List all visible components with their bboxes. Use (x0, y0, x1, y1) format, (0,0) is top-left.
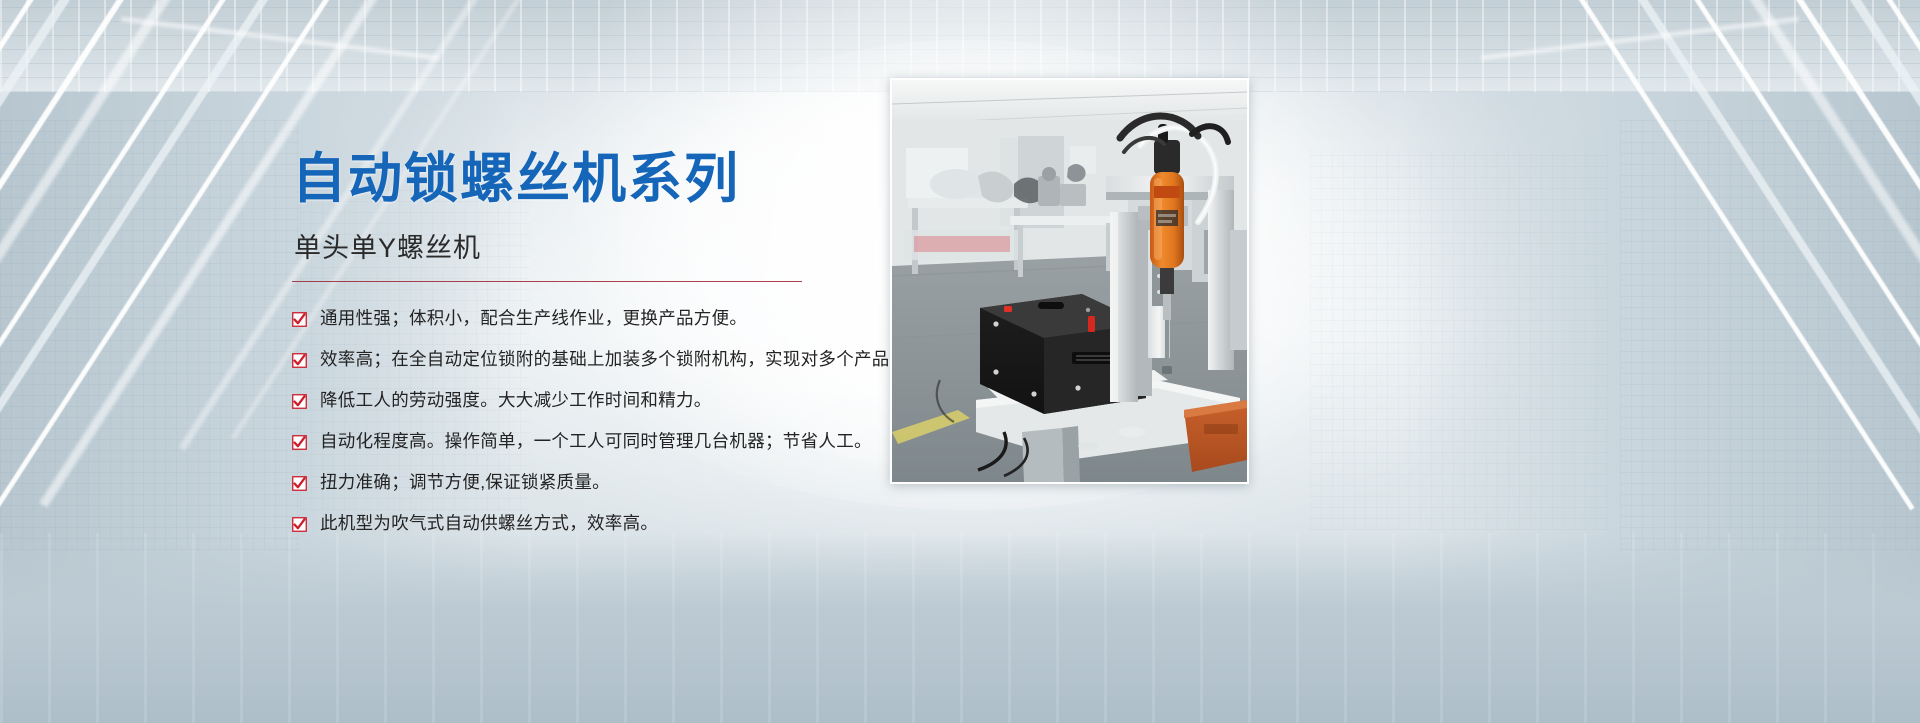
feature-text: 自动化程度高。操作简单，一个工人可同时管理几台机器；节省人工。 (320, 431, 872, 453)
feature-text: 扭力准确；调节方便,保证锁紧质量。 (320, 472, 610, 494)
list-item: 通用性强；体积小，配合生产线作业，更换产品方便。 (292, 308, 892, 330)
page-title: 自动锁螺丝机系列 (292, 150, 892, 208)
feature-text: 降低工人的劳动强度。大大减少工作时间和精力。 (320, 390, 712, 412)
list-item: 此机型为吹气式自动供螺丝方式，效率高。 (292, 513, 892, 535)
page-subtitle: 单头单Y螺丝机 (294, 226, 892, 265)
list-item: 降低工人的劳动强度。大大减少工作时间和精力。 (292, 390, 892, 412)
feature-text: 效率高；在全自动定位锁附的基础上加装多个锁附机构，实现对多个产品同时锁附。 (320, 349, 979, 371)
check-icon (292, 435, 307, 450)
banner-content: 自动锁螺丝机系列 单头单Y螺丝机 通用性强；体积小，配合生产线作业，更换产品方便… (0, 0, 1920, 723)
feature-text: 通用性强；体积小，配合生产线作业，更换产品方便。 (320, 308, 747, 330)
check-icon (292, 312, 307, 327)
text-column: 自动锁螺丝机系列 单头单Y螺丝机 通用性强；体积小，配合生产线作业，更换产品方便… (292, 150, 892, 554)
feature-text: 此机型为吹气式自动供螺丝方式，效率高。 (320, 513, 658, 535)
product-photo (890, 78, 1249, 484)
list-item: 自动化程度高。操作简单，一个工人可同时管理几台机器；节省人工。 (292, 431, 892, 453)
check-icon (292, 476, 307, 491)
list-item: 效率高；在全自动定位锁附的基础上加装多个锁附机构，实现对多个产品同时锁附。 (292, 349, 892, 371)
check-icon (292, 394, 307, 409)
feature-list: 通用性强；体积小，配合生产线作业，更换产品方便。 效率高；在全自动定位锁附的基础… (292, 308, 892, 534)
title-divider (292, 281, 802, 282)
product-banner: 自动锁螺丝机系列 单头单Y螺丝机 通用性强；体积小，配合生产线作业，更换产品方便… (0, 0, 1920, 723)
list-item: 扭力准确；调节方便,保证锁紧质量。 (292, 472, 892, 494)
check-icon (292, 517, 307, 532)
check-icon (292, 353, 307, 368)
